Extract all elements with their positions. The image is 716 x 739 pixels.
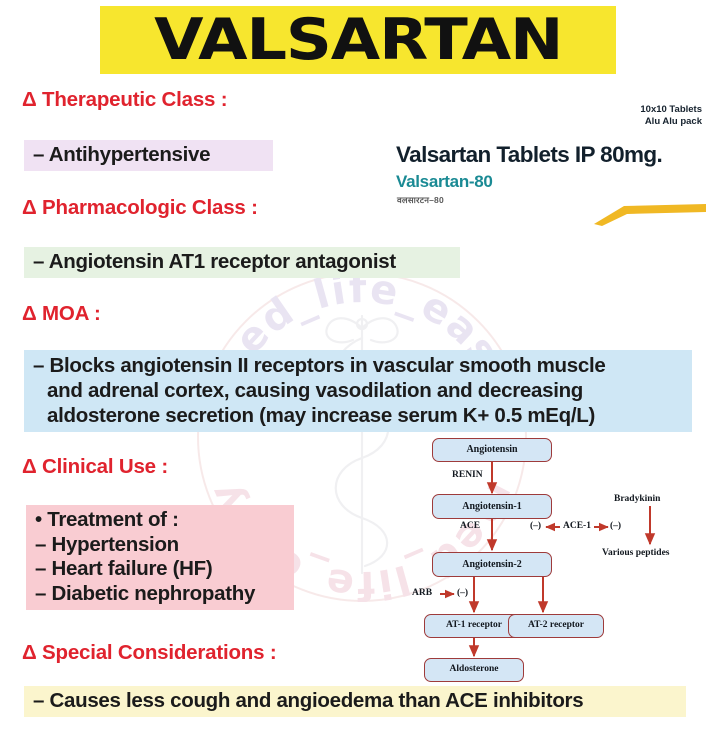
- label-bradykinin: Bradykinin: [614, 494, 660, 504]
- box-special-considerations: – Causes less cough and angioedema than …: [24, 686, 686, 717]
- label-various-peptides: Various peptides: [602, 548, 669, 558]
- label-ace1: ACE-1: [563, 521, 591, 531]
- box-clinical-use: • Treatment of : – Hypertension – Heart …: [26, 505, 294, 610]
- node-at2-receptor: AT-2 receptor: [508, 614, 604, 638]
- raas-pathway-diagram: Angiotensin Angiotensin-1 Angiotensin-2 …: [404, 434, 710, 688]
- page-title-banner: VALSARTAN: [100, 6, 616, 74]
- pack-brand-hindi: वलसारटन–80: [397, 195, 444, 206]
- therapeutic-class-value: – Antihypertensive: [33, 143, 210, 166]
- clinical-use-line-1: • Treatment of :: [35, 508, 285, 533]
- box-pharmacologic-class: – Angiotensin AT1 receptor antagonist: [24, 247, 460, 278]
- label-ace1-right-minus: (–): [610, 521, 621, 531]
- moa-line-3: aldosterone secretion (may increase seru…: [33, 403, 683, 428]
- heading-special-considerations: Δ Special Considerations :: [22, 641, 276, 665]
- label-renin: RENIN: [452, 470, 483, 480]
- heading-moa: Δ MOA :: [22, 302, 101, 326]
- moa-line-1: – Blocks angiotensin II receptors in vas…: [33, 353, 683, 378]
- moa-line-2: and adrenal cortex, causing vasodilation…: [33, 378, 683, 403]
- pharmacologic-class-value: – Angiotensin AT1 receptor antagonist: [33, 250, 396, 273]
- node-aldosterone: Aldosterone: [424, 658, 524, 682]
- pack-stripe-graphic: [594, 200, 706, 226]
- label-ace: ACE: [460, 521, 480, 531]
- pack-quantity: 10x10 Tablets Alu Alu pack: [640, 104, 702, 128]
- clinical-use-line-4: – Diabetic nephropathy: [35, 582, 285, 607]
- node-angiotensin-2: Angiotensin-2: [432, 552, 552, 577]
- box-therapeutic-class: – Antihypertensive: [24, 140, 273, 171]
- heading-clinical-use: Δ Clinical Use :: [22, 455, 168, 479]
- special-considerations-value: – Causes less cough and angioedema than …: [33, 689, 583, 712]
- clinical-use-line-3: – Heart failure (HF): [35, 557, 285, 582]
- pack-title: Valsartan Tablets IP 80mg.: [396, 142, 662, 168]
- heading-therapeutic-class: Δ Therapeutic Class :: [22, 88, 227, 112]
- pack-brand: Valsartan-80: [396, 172, 493, 192]
- heading-pharmacologic-class: Δ Pharmacologic Class :: [22, 196, 258, 220]
- box-moa: – Blocks angiotensin II receptors in vas…: [24, 350, 692, 432]
- clinical-use-line-2: – Hypertension: [35, 533, 285, 558]
- page-title: VALSARTAN: [154, 7, 562, 73]
- node-angiotensin-1: Angiotensin-1: [432, 494, 552, 519]
- label-arb: ARB: [412, 588, 432, 598]
- pack-quantity-line2: Alu Alu pack: [640, 116, 702, 128]
- product-pack-image: 10x10 Tablets Alu Alu pack Valsartan Tab…: [386, 100, 710, 228]
- node-angiotensin: Angiotensin: [432, 438, 552, 462]
- pack-quantity-line1: 10x10 Tablets: [640, 104, 702, 116]
- label-arb-minus: (–): [457, 588, 468, 598]
- label-ace1-left-minus: (–): [530, 521, 541, 531]
